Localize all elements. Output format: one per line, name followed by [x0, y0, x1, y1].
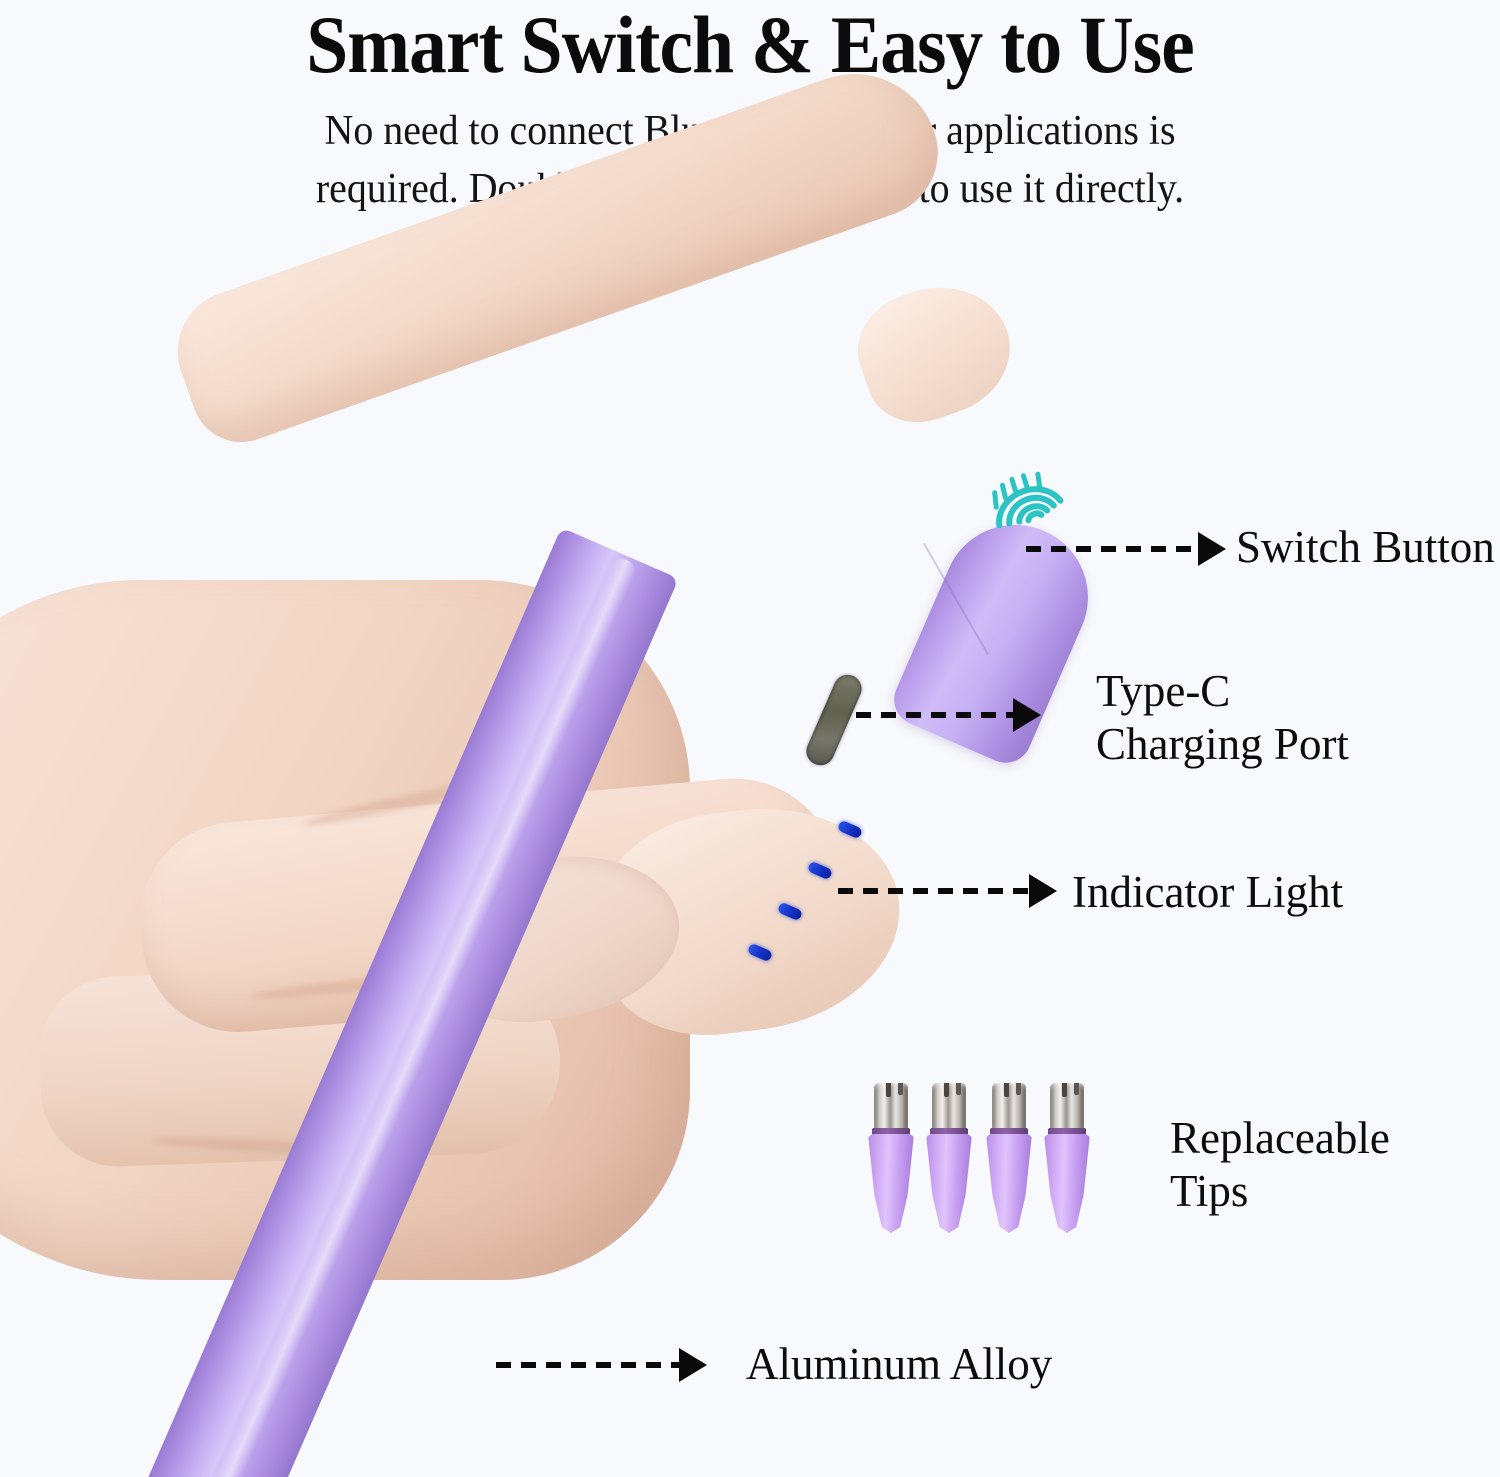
callout-label-indicator-light: Indicator Light: [1072, 866, 1343, 919]
tip-cone: [986, 1134, 1032, 1233]
callout-line-aluminum-alloy: [496, 1362, 681, 1368]
callout-arrow-switch-button: [1198, 532, 1226, 566]
hand-holding-stylus: [0, 280, 760, 1477]
callout-arrow-type-c: [1013, 698, 1041, 732]
callout-label-aluminum-alloy: Aluminum Alloy: [746, 1338, 1052, 1391]
tip-collar: [930, 1128, 968, 1135]
tip-collar: [1048, 1128, 1086, 1135]
callout-line-switch-button: [1026, 546, 1201, 552]
tip-notch: [1016, 1083, 1021, 1095]
callout-label-switch-button: Switch Button: [1236, 521, 1495, 574]
replaceable-tip: [926, 1083, 972, 1233]
tip-metal-contact: [1050, 1083, 1084, 1129]
tip-collar: [990, 1128, 1028, 1135]
callout-label-type-c: Type-C Charging Port: [1096, 665, 1349, 771]
tip-cone: [1044, 1134, 1090, 1233]
callout-label-replaceable-tips: Replaceable Tips: [1170, 1112, 1390, 1218]
callout-arrow-aluminum-alloy: [679, 1348, 707, 1382]
callout-label-replaceable-tips-line1: Replaceable: [1170, 1112, 1390, 1165]
callout-line-indicator-light: [838, 888, 1028, 894]
tip-notch: [886, 1083, 891, 1097]
callout-label-type-c-line1: Type-C: [1096, 665, 1349, 718]
callout-label-type-c-line2: Charging Port: [1096, 718, 1349, 771]
type-c-port: [802, 670, 866, 769]
tip-notch: [944, 1083, 949, 1097]
tip-metal-contact: [932, 1083, 966, 1129]
tip-notch: [956, 1083, 961, 1095]
tip-notch: [1074, 1083, 1079, 1095]
callout-arrow-indicator-light: [1029, 874, 1057, 908]
replaceable-tip: [986, 1083, 1032, 1233]
product-infographic: Smart Switch & Easy to Use No need to co…: [0, 0, 1500, 1477]
index-fingertip: [843, 267, 1027, 437]
tip-cone: [926, 1134, 972, 1233]
replaceable-tips-group: [868, 1083, 1118, 1233]
fingerprint-icon: [960, 452, 1090, 550]
callout-line-type-c: [856, 712, 1016, 718]
tip-collar: [872, 1128, 910, 1135]
tip-notch: [1062, 1083, 1067, 1097]
tip-notch: [1004, 1083, 1009, 1097]
replaceable-tip: [1044, 1083, 1090, 1233]
page-title: Smart Switch & Easy to Use: [60, 0, 1440, 88]
replaceable-tip: [868, 1083, 914, 1233]
tip-metal-contact: [992, 1083, 1026, 1129]
tip-cone: [868, 1134, 914, 1233]
callout-label-replaceable-tips-line2: Tips: [1170, 1165, 1390, 1218]
tip-metal-contact: [874, 1083, 908, 1129]
tip-notch: [898, 1083, 903, 1095]
